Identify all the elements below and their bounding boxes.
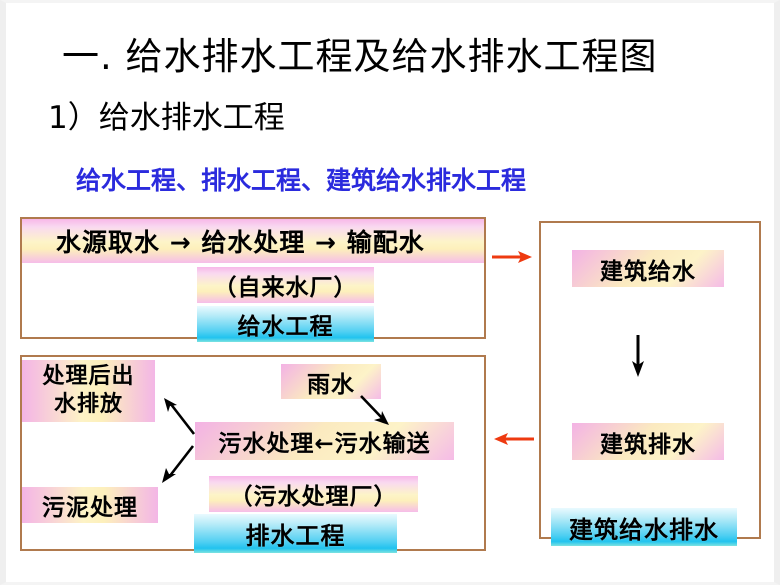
arrow-right-red-icon — [490, 246, 536, 268]
treated-effluent-discharge-label: 处理后出 水排放 — [22, 360, 155, 422]
waterworks-label: （自来水厂） — [197, 267, 374, 303]
arrow-up-left-black-icon — [160, 396, 200, 438]
slide-canvas: 一. 给水排水工程及给水排水工程图 1）给水排水工程 给水工程、排水工程、建筑给… — [0, 0, 780, 585]
sewage-flow-label: 污水处理←污水输送 — [195, 422, 454, 460]
building-water-supply-label: 建筑给水 — [572, 250, 724, 287]
treated-effluent-line-2: 水排放 — [54, 391, 123, 419]
drainage-engineering-label: 排水工程 — [194, 514, 397, 553]
page-subtitle: 1）给水排水工程 — [48, 98, 285, 138]
section-highlight-text: 给水工程、排水工程、建筑给水排水工程 — [76, 165, 526, 197]
building-drainage-label: 建筑排水 — [572, 423, 724, 460]
arrow-left-red-icon — [490, 428, 536, 450]
arrow-down-left-black-icon — [157, 443, 197, 485]
page-title: 一. 给水排水工程及给水排水工程图 — [62, 33, 658, 81]
sludge-treatment-label: 污泥处理 — [22, 487, 158, 523]
treated-effluent-line-1: 处理后出 — [42, 363, 134, 391]
building-water-supply-drainage-label: 建筑给水排水 — [551, 508, 737, 546]
arrow-down-black-icon — [627, 333, 649, 379]
water-supply-engineering-label: 给水工程 — [197, 306, 374, 342]
arrow-down-right-black-icon — [358, 393, 394, 429]
sewage-plant-label: （污水处理厂） — [209, 476, 418, 512]
water-supply-flow-label: 水源取水 → 给水处理 → 输配水 — [22, 219, 484, 263]
